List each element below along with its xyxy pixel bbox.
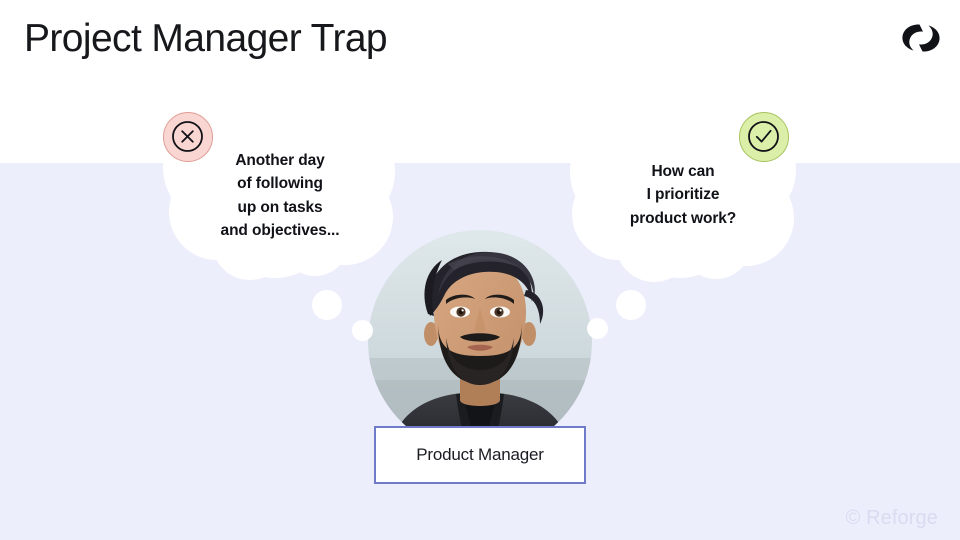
thought-tail-dot-small-left (352, 320, 373, 341)
circle-x-icon (163, 112, 213, 162)
product-manager-portrait (368, 230, 592, 454)
persona-label-box: Product Manager (374, 426, 586, 484)
thought-bubble-negative-text: Another day of following up on tasks and… (155, 149, 405, 243)
persona-label-text: Product Manager (416, 445, 543, 465)
circle-check-icon (739, 112, 789, 162)
thought-tail-dot-large-right (616, 290, 646, 320)
thought-tail-dot-small-right (587, 318, 608, 339)
thought-bubble-positive-text: How can I prioritize product work? (558, 160, 808, 230)
reforge-logo (899, 20, 943, 56)
slide-root: Project Manager Trap Another day of foll… (0, 0, 960, 540)
thought-tail-dot-large-left (312, 290, 342, 320)
page-title: Project Manager Trap (24, 17, 387, 61)
copyright-watermark: © Reforge (846, 507, 938, 530)
